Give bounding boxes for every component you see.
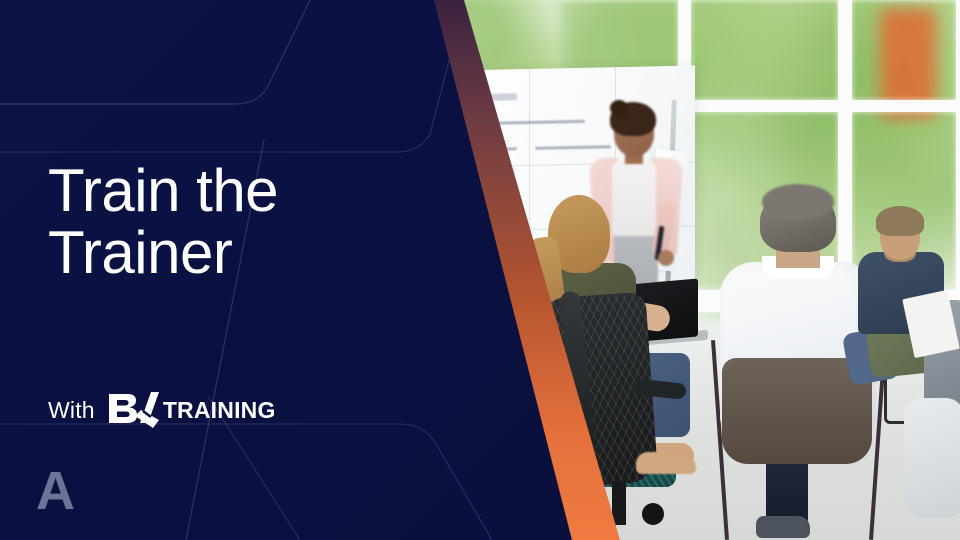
ba-training-logo: TRAINING — [107, 390, 276, 430]
page-title: Train the Trainer — [48, 160, 388, 285]
title-line-1: Train the — [48, 160, 388, 222]
ba-monogram-icon — [107, 390, 161, 430]
brand-lockup: With TRAINING — [48, 390, 276, 430]
title-line-2: Trainer — [48, 222, 388, 284]
watermark-letter: A — [36, 464, 75, 518]
with-label: With — [48, 397, 95, 424]
brand-name: TRAINING — [163, 397, 276, 424]
slide-canvas: Train the Trainer With TRAINING A — [0, 0, 960, 540]
